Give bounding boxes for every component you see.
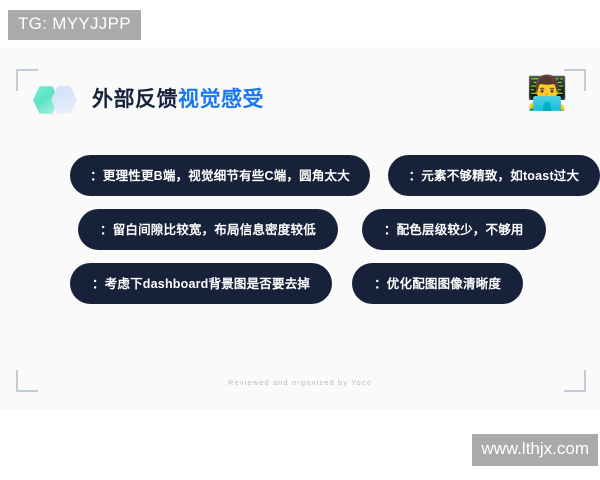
feedback-card: 外部反馈视觉感受 👨‍💻 ：更理性更B端，视觉细节有些C端，圆角太大 ：元素不够… bbox=[0, 47, 600, 410]
feedback-row: ：留白间隙比较宽，布局信息密度较低 ：配色层级较少，不够用 bbox=[0, 209, 600, 250]
feedback-pill[interactable]: ：优化配图图像清晰度 bbox=[352, 263, 523, 304]
page-title: 外部反馈视觉感受 bbox=[92, 87, 264, 113]
feedback-pill[interactable]: ：配色层级较少，不够用 bbox=[362, 209, 546, 250]
feedback-pill[interactable]: ：留白间隙比较宽，布局信息密度较低 bbox=[78, 209, 338, 250]
double-hexagon-icon bbox=[33, 83, 79, 117]
hexagon-blue-icon bbox=[51, 85, 77, 115]
tg-handle-overlay: TG: MYYJJPP bbox=[8, 10, 141, 40]
site-watermark: www.lthjx.com bbox=[472, 434, 598, 466]
feedback-pill[interactable]: ：更理性更B端，视觉细节有些C端，圆角太大 bbox=[70, 155, 370, 196]
feedback-pill[interactable]: ：考虑下dashboard背景图是否要去掉 bbox=[70, 263, 332, 304]
card-header: 外部反馈视觉感受 bbox=[33, 83, 264, 117]
credit-line: Reviewed and organized by Yoco bbox=[0, 377, 600, 388]
page-title-accent: 视觉感受 bbox=[178, 88, 264, 111]
man-technologist-emoji: 👨‍💻 bbox=[526, 73, 568, 117]
feedback-row: ：更理性更B端，视觉细节有些C端，圆角太大 ：元素不够精致，如toast过大 bbox=[0, 155, 600, 196]
screenshot-root: TG: MYYJJPP 外部反馈视觉感受 👨‍💻 ：更理性更B端，视觉细节有些C… bbox=[0, 0, 600, 480]
feedback-pill[interactable]: ：元素不够精致，如toast过大 bbox=[388, 155, 600, 196]
feedback-row: ：考虑下dashboard背景图是否要去掉 ：优化配图图像清晰度 bbox=[0, 263, 600, 304]
feedback-pill-grid: ：更理性更B端，视觉细节有些C端，圆角太大 ：元素不够精致，如toast过大 ：… bbox=[0, 155, 600, 317]
page-title-primary: 外部反馈 bbox=[92, 88, 178, 111]
